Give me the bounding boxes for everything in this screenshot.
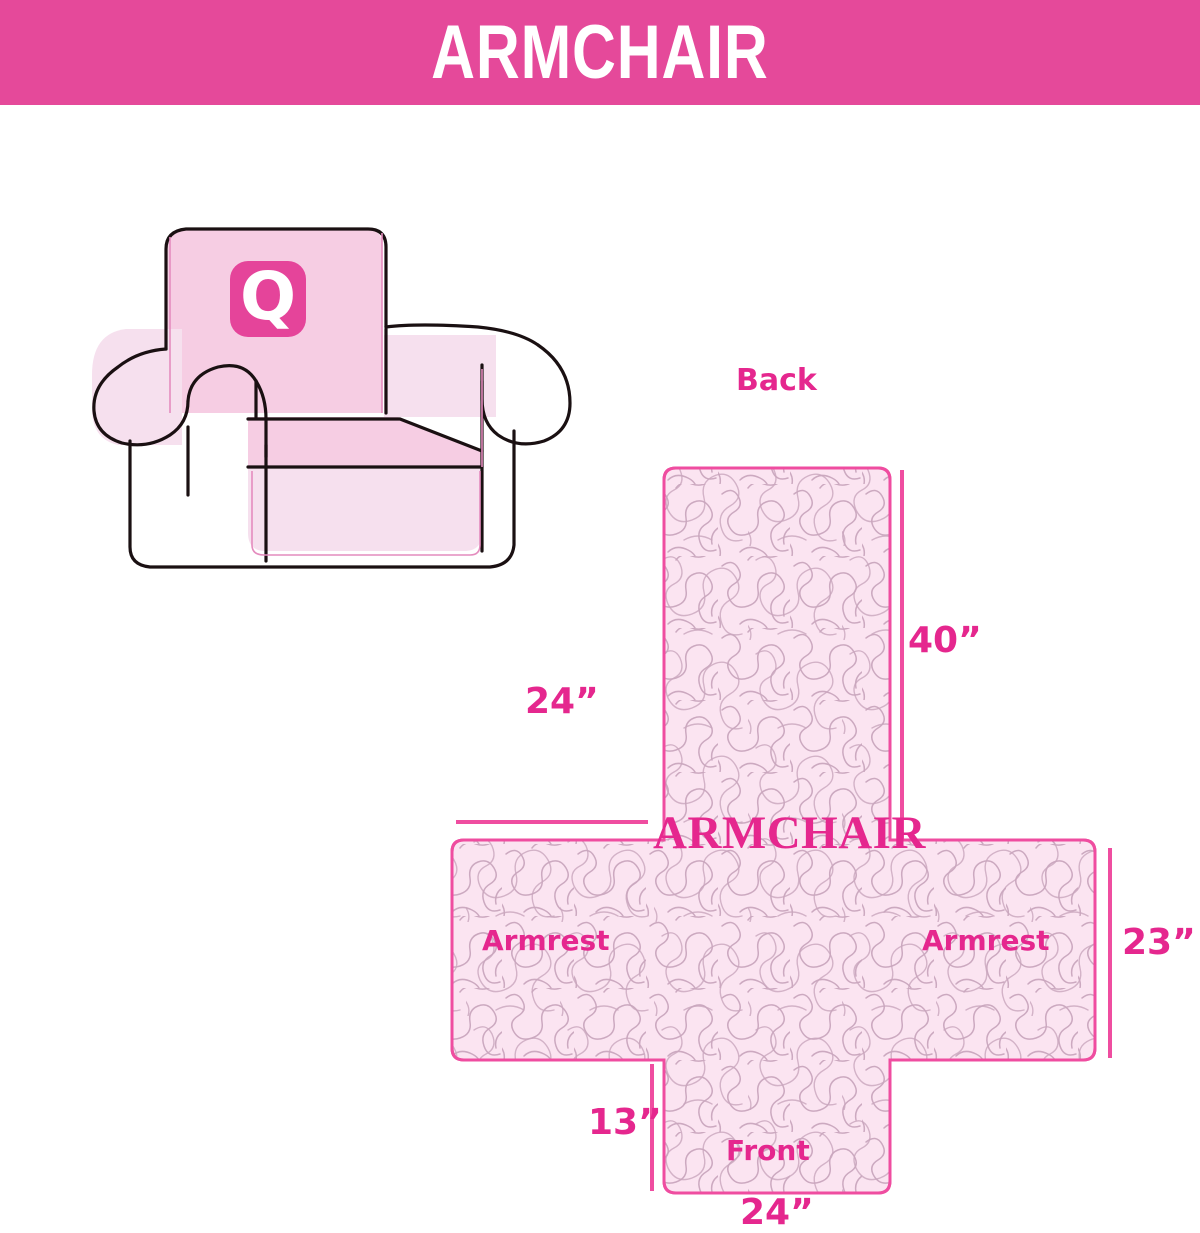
dimension-label-front-width: 24” <box>740 1195 814 1231</box>
panel-label-armrest-left: Armrest <box>482 927 610 955</box>
dimension-label-front-height: 13” <box>588 1105 662 1141</box>
flat-layout-diagram: Back ARMCHAIR Armrest Armrest Front 40” … <box>430 340 1190 1200</box>
panel-label-armrest-right: Armrest <box>922 927 1050 955</box>
diagram-center-label: ARMCHAIR <box>653 810 926 857</box>
panel-label-back: Back <box>736 366 817 396</box>
panel-label-front: Front <box>726 1137 810 1165</box>
content-area: Q <box>0 105 1200 1200</box>
chair-left-arm-fill <box>92 329 182 445</box>
dimension-label-back-height: 40” <box>908 623 982 659</box>
logo-letter-q: Q <box>240 258 296 335</box>
brand-logo-badge: Q <box>230 258 306 337</box>
dimension-label-center-height: 23” <box>1122 925 1196 961</box>
header-banner: ARMCHAIR <box>0 0 1200 105</box>
page-title: ARMCHAIR <box>431 15 768 91</box>
dimension-label-armrest-width: 24” <box>525 684 599 720</box>
